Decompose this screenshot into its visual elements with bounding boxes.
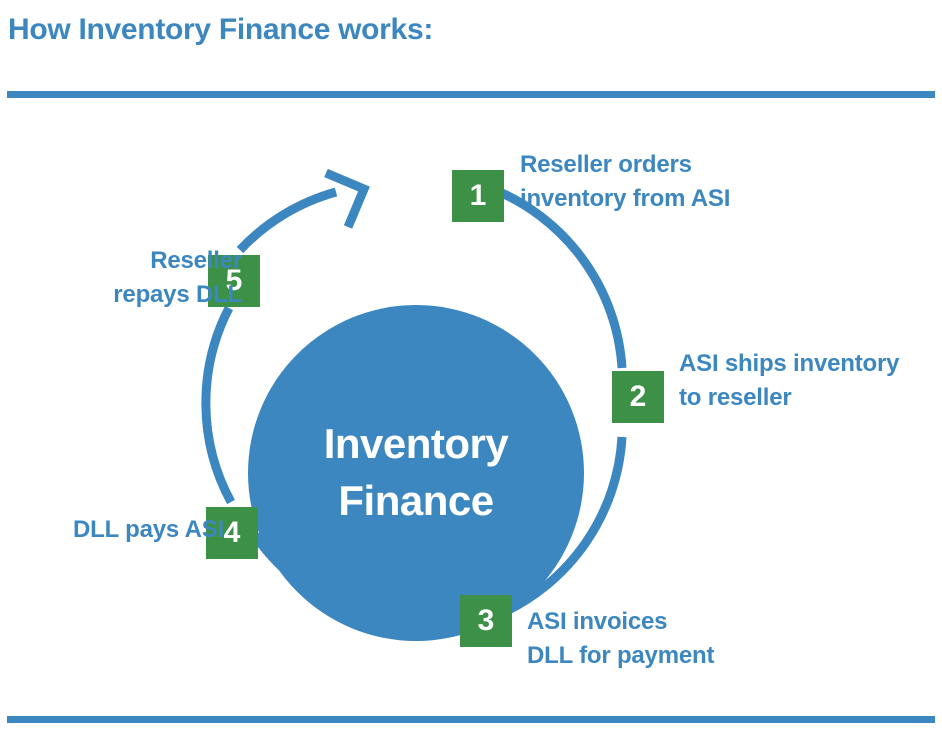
step-badge-1[interactable]: 1	[452, 170, 504, 222]
step-label-5-line2: repays DLL	[113, 278, 242, 312]
step-label-3: ASI invoices DLL for payment	[527, 605, 714, 673]
divider-top	[7, 91, 935, 98]
step-label-1-line2: inventory from ASI	[520, 182, 730, 216]
step-label-5-line1: Reseller	[113, 244, 242, 278]
step-label-2: ASI ships inventory to reseller	[679, 347, 899, 415]
step-label-3-line1: ASI invoices	[527, 605, 714, 639]
step-badge-2[interactable]: 2	[612, 371, 664, 423]
center-title-line2: Finance	[338, 473, 493, 530]
step-label-3-line2: DLL for payment	[527, 639, 714, 673]
step-label-2-line1: ASI ships inventory	[679, 347, 899, 381]
step-label-1-line1: Reseller orders	[520, 148, 730, 182]
divider-bottom	[7, 716, 935, 723]
step-label-5: Reseller repays DLL	[113, 244, 242, 312]
step-label-4: DLL pays ASI	[73, 513, 224, 547]
cycle-diagram: Inventory Finance 1 Reseller orders inve…	[0, 110, 942, 710]
center-title-line1: Inventory	[324, 416, 509, 473]
step-label-4-line1: DLL pays ASI	[73, 513, 224, 547]
center-circle: Inventory Finance	[248, 305, 584, 641]
curved-arrow-icon	[326, 173, 364, 227]
ring-arc-4	[206, 308, 231, 502]
infographic-page: How Inventory Finance works: Invent	[0, 0, 942, 740]
page-title: How Inventory Finance works:	[8, 13, 433, 47]
step-label-1: Reseller orders inventory from ASI	[520, 148, 730, 216]
step-badge-3[interactable]: 3	[460, 595, 512, 647]
ring-arc-5	[240, 192, 336, 250]
step-label-2-line2: to reseller	[679, 381, 899, 415]
